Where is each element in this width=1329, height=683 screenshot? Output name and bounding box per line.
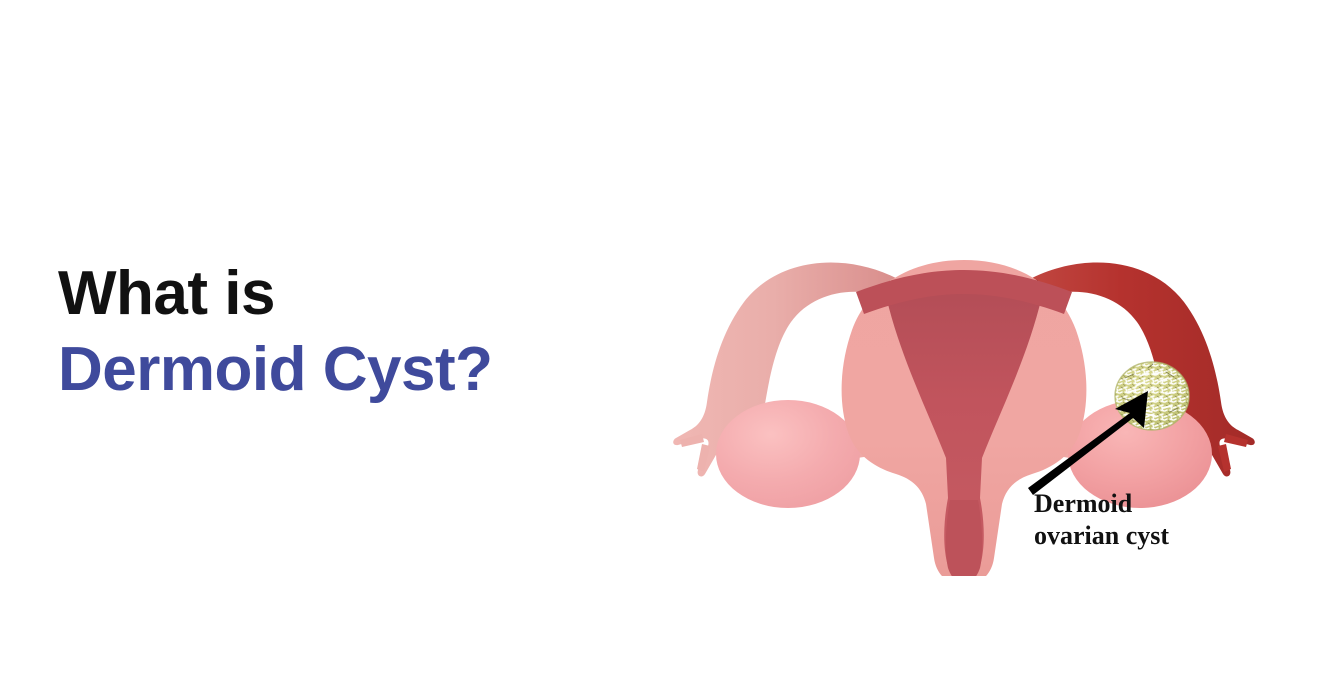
page-title-line-2: Dermoid Cyst? [58,332,618,408]
callout-label-line-1: Dermoid [1034,488,1264,520]
callout-label-line-2: ovarian cyst [1034,520,1264,552]
page-title-line-1: What is [58,256,618,332]
page-title: What is Dermoid Cyst? [58,256,618,408]
cervix [946,500,982,576]
callout-label: Dermoid ovarian cyst [1034,488,1264,552]
page-canvas: What is Dermoid Cyst? [0,0,1329,683]
